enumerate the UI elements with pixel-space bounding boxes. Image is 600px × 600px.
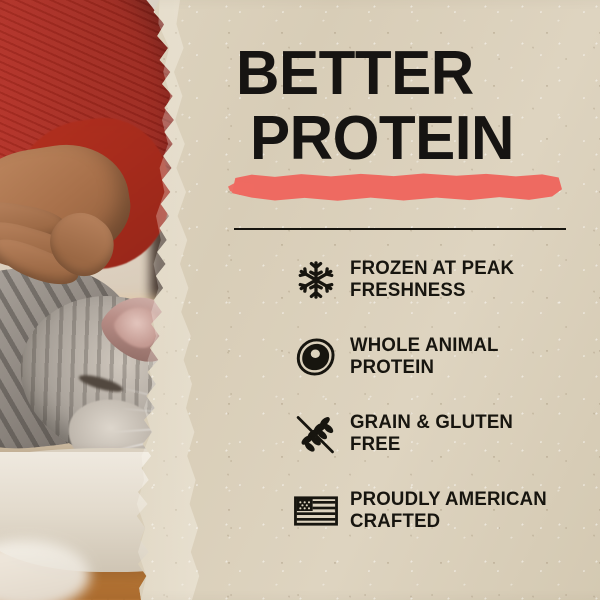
- list-item: FROZEN AT PEAK FRESHNESS: [232, 252, 600, 308]
- list-item-label: GRAIN & GLUTEN FREE: [350, 412, 513, 456]
- list-item: WHOLE ANIMAL PROTEIN: [232, 329, 600, 385]
- snowflake-icon: [290, 254, 342, 306]
- list-item-label: FROZEN AT PEAK FRESHNESS: [350, 258, 514, 302]
- wheat-crossed-out-icon: [290, 408, 342, 460]
- headline-line-1: BETTER: [236, 44, 566, 105]
- coral-brush-stroke: [232, 173, 562, 201]
- ad-creative: BETTER PROTEIN: [0, 0, 600, 600]
- meat-cut-icon: [290, 331, 342, 383]
- content-column: BETTER PROTEIN: [232, 0, 600, 600]
- list-item-label: PROUDLY AMERICAN CRAFTED: [350, 489, 547, 533]
- coral-brush-stroke-tail: [228, 181, 254, 195]
- list-item-label: WHOLE ANIMAL PROTEIN: [350, 335, 499, 379]
- horizontal-divider: [234, 228, 566, 230]
- page-title: BETTER PROTEIN: [236, 44, 576, 170]
- us-flag-icon: [290, 485, 342, 537]
- headline-line-2: PROTEIN: [250, 109, 566, 170]
- feature-list: FROZEN AT PEAK FRESHNESS WHOLE ANIMAL PR…: [232, 252, 600, 560]
- list-item: PROUDLY AMERICAN CRAFTED: [232, 483, 600, 539]
- list-item: GRAIN & GLUTEN FREE: [232, 406, 600, 462]
